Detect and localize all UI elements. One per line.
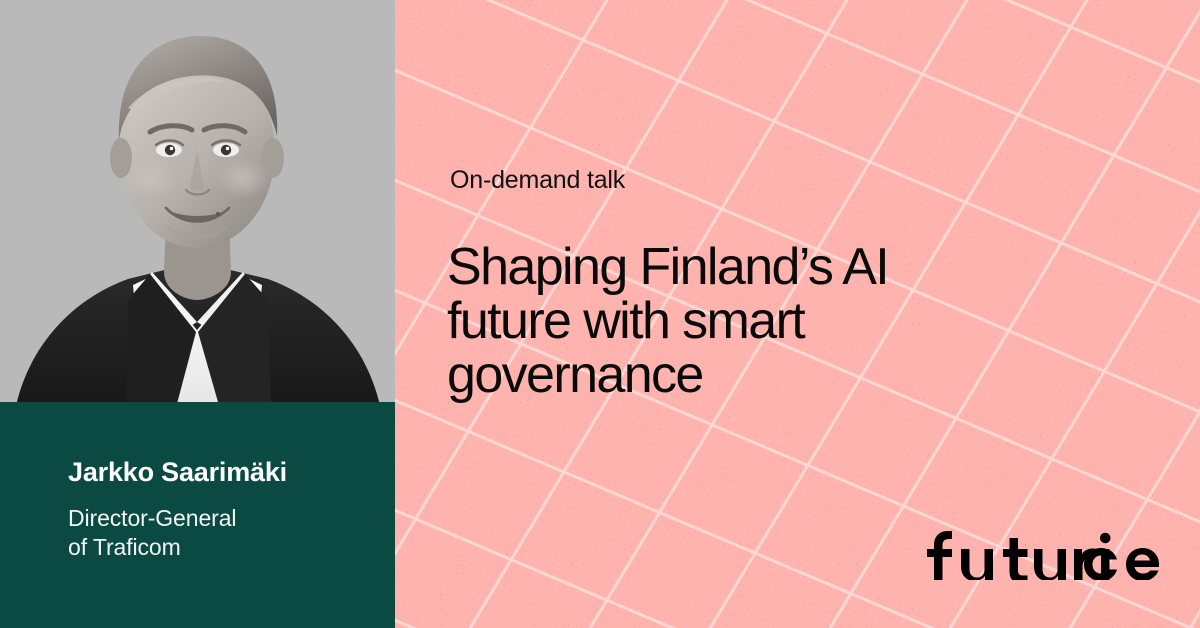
eyebrow-label: On-demand talk	[450, 166, 625, 195]
speaker-name: Jarkko Saarimäki	[68, 458, 355, 488]
headline-line-3: governance	[447, 348, 1127, 402]
promo-content-panel: On-demand talk Shaping Finland’s AI futu…	[395, 0, 1200, 628]
speaker-info-card: Jarkko Saarimäki Director-General of Tra…	[0, 402, 395, 628]
promo-card: Jarkko Saarimäki Director-General of Tra…	[0, 0, 1200, 628]
promo-headline: Shaping Finland’s AI future with smart g…	[447, 240, 1127, 402]
speaker-role: Director-General of Traficom	[68, 504, 355, 563]
headline-line-2: future with smart	[447, 294, 1127, 348]
futurice-logo-ce	[1080, 528, 1200, 580]
headline-line-1: Shaping Finland’s AI	[447, 240, 1127, 294]
speaker-role-line-1: Director-General	[68, 505, 236, 531]
promo-text-block: On-demand talk Shaping Finland’s AI futu…	[395, 0, 1200, 628]
speaker-column: Jarkko Saarimäki Director-General of Tra…	[0, 0, 395, 628]
speaker-role-line-2: of Traficom	[68, 534, 181, 560]
